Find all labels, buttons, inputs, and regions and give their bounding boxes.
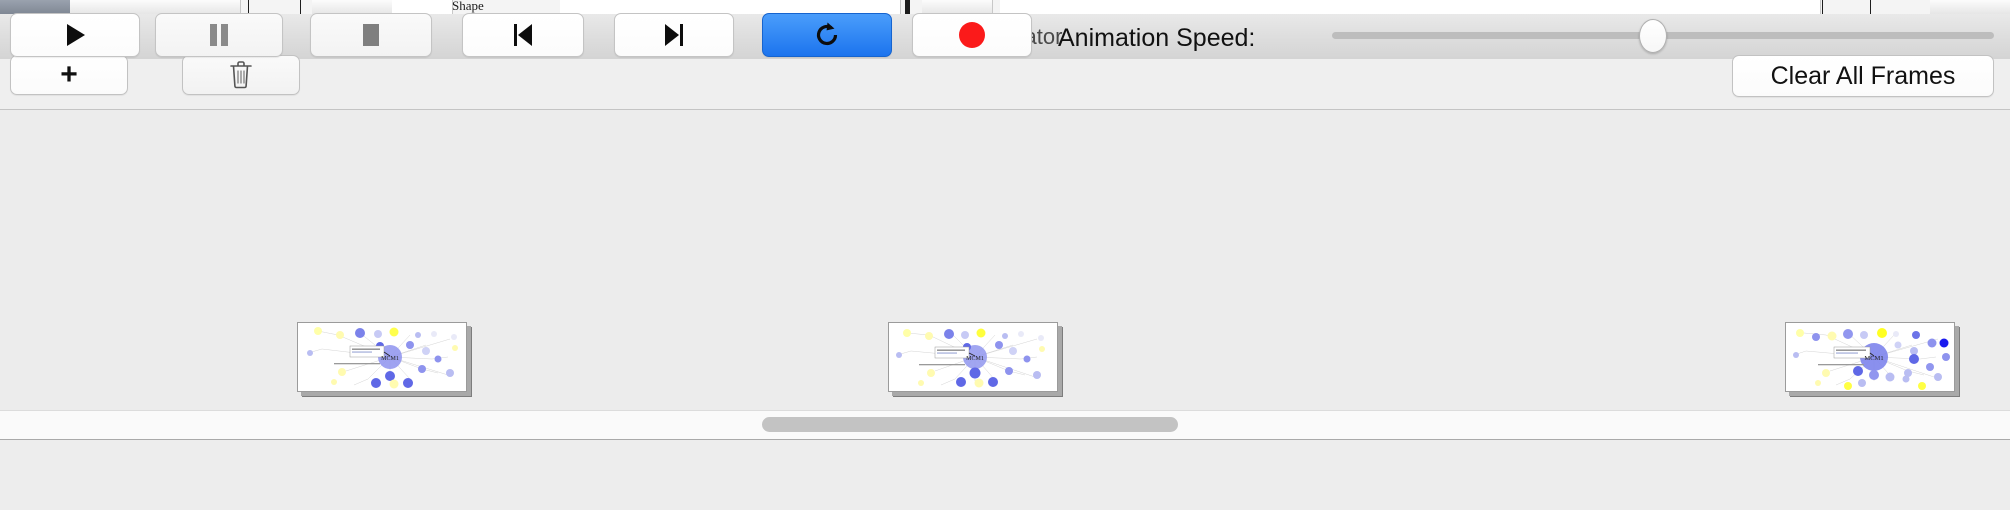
bg-chunk	[70, 0, 181, 14]
playback-toolbar	[0, 439, 2010, 510]
play-button[interactable]	[10, 13, 140, 57]
skip-back-icon	[511, 22, 535, 48]
bg-chunk	[922, 0, 993, 14]
node-label: MCM1	[1864, 355, 1883, 362]
timeline-panel[interactable]: MCM1	[0, 110, 2010, 410]
timeline-frame-thumbnail[interactable]: MCM1	[888, 322, 1058, 392]
animation-speed-slider[interactable]	[1332, 30, 1994, 38]
network-preview: MCM1	[889, 323, 1057, 391]
bg-tick	[248, 0, 249, 14]
slider-thumb[interactable]	[1639, 19, 1667, 53]
clear-all-frames-label: Clear All Frames	[1771, 62, 1956, 91]
bg-chunk	[392, 0, 453, 14]
pause-button[interactable]	[155, 13, 283, 57]
pause-icon	[208, 22, 230, 48]
bg-tick	[1822, 0, 1823, 14]
plus-icon: +	[60, 60, 78, 90]
loop-icon	[813, 21, 841, 49]
play-icon	[62, 21, 88, 49]
bg-tick	[905, 0, 910, 14]
loop-button[interactable]	[762, 13, 892, 57]
record-icon	[959, 22, 985, 48]
next-frame-button[interactable]	[614, 13, 734, 57]
timeline-frame-thumbnail[interactable]: MCM1	[297, 322, 467, 392]
clear-all-frames-button[interactable]: Clear All Frames	[1732, 55, 1994, 97]
stop-icon	[360, 22, 382, 48]
delete-frame-button[interactable]	[182, 55, 300, 95]
previous-frame-button[interactable]	[462, 13, 584, 57]
bg-chunk	[1930, 0, 2010, 14]
bg-chunk	[560, 0, 901, 14]
scrollbar-thumb[interactable]	[762, 417, 1178, 432]
bg-chunk	[0, 0, 71, 14]
skip-forward-icon	[662, 22, 686, 48]
node-label: MCM1	[381, 356, 399, 362]
cyanimator-window: Shape CyAnimator + Clear All Frames	[0, 0, 2010, 510]
bg-chunk	[312, 0, 393, 14]
trash-icon	[228, 60, 254, 90]
animation-speed-label: Animation Speed:	[1058, 24, 1255, 53]
bg-chunk	[180, 0, 241, 14]
timeline-frame-thumbnail[interactable]: MCM1	[1785, 322, 1955, 392]
bg-tick	[300, 0, 301, 14]
bg-tick	[1870, 0, 1871, 14]
bg-chunk	[1000, 0, 1821, 14]
timeline-scrollbar[interactable]	[0, 410, 2010, 440]
stop-button[interactable]	[310, 13, 432, 57]
record-button[interactable]	[912, 13, 1032, 57]
add-frame-button[interactable]: +	[10, 55, 128, 95]
background-window-label: Shape	[452, 0, 484, 13]
frame-toolbar	[0, 59, 2010, 110]
node-label: MCM1	[966, 356, 984, 362]
network-preview: MCM1	[1786, 323, 1954, 391]
network-preview: MCM1	[298, 323, 466, 391]
